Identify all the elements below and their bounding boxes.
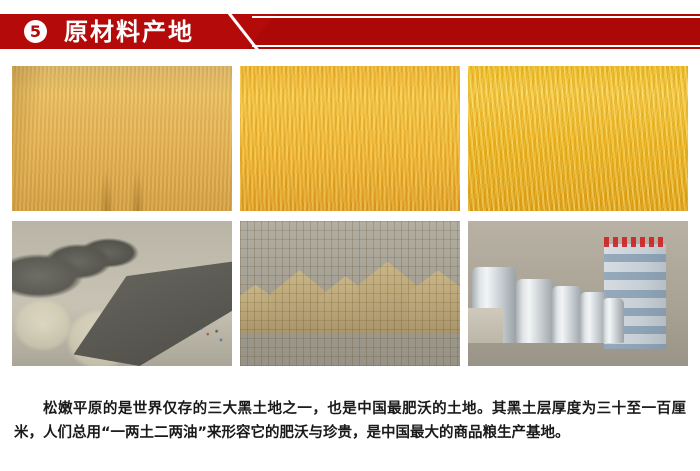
steel-tank (516, 279, 553, 343)
tarpaulin-texture-layer (240, 221, 460, 366)
section-number-badge: 5 (24, 20, 47, 43)
wheat-stalks-layer (468, 66, 688, 211)
banner-inner-rule-bottom (252, 45, 700, 47)
page-title: 原材料产地 (64, 18, 194, 46)
steel-tank (602, 298, 624, 343)
photo-gallery-grid (12, 66, 688, 366)
banner-rule-bottom (0, 49, 700, 51)
photo-grain-silo-warehouse (12, 221, 232, 366)
side-shed (468, 308, 503, 343)
steel-tank (552, 286, 583, 343)
photo-wheat-field-blue-sky (12, 66, 232, 211)
section-caption: 松嫩平原的是世界仅存的三大黑土地之一，也是中国最肥沃的土地。其黑土层厚度为三十至… (14, 397, 686, 445)
rooftop-sign (604, 237, 666, 247)
banner-rule-top (0, 12, 700, 14)
photo-covered-grain-stacks (240, 221, 460, 366)
photo-wheat-ears-closeup (468, 66, 688, 211)
workers-layer (12, 221, 232, 366)
section-header-banner: 5 原材料产地 (0, 12, 700, 51)
banner-inner-rule-top (252, 16, 700, 18)
photo-steel-tanks-factory (468, 221, 688, 366)
wheat-texture-layer (240, 66, 460, 211)
photo-sunset-wheat-field (240, 66, 460, 211)
tractor-tracks-layer (12, 66, 232, 211)
